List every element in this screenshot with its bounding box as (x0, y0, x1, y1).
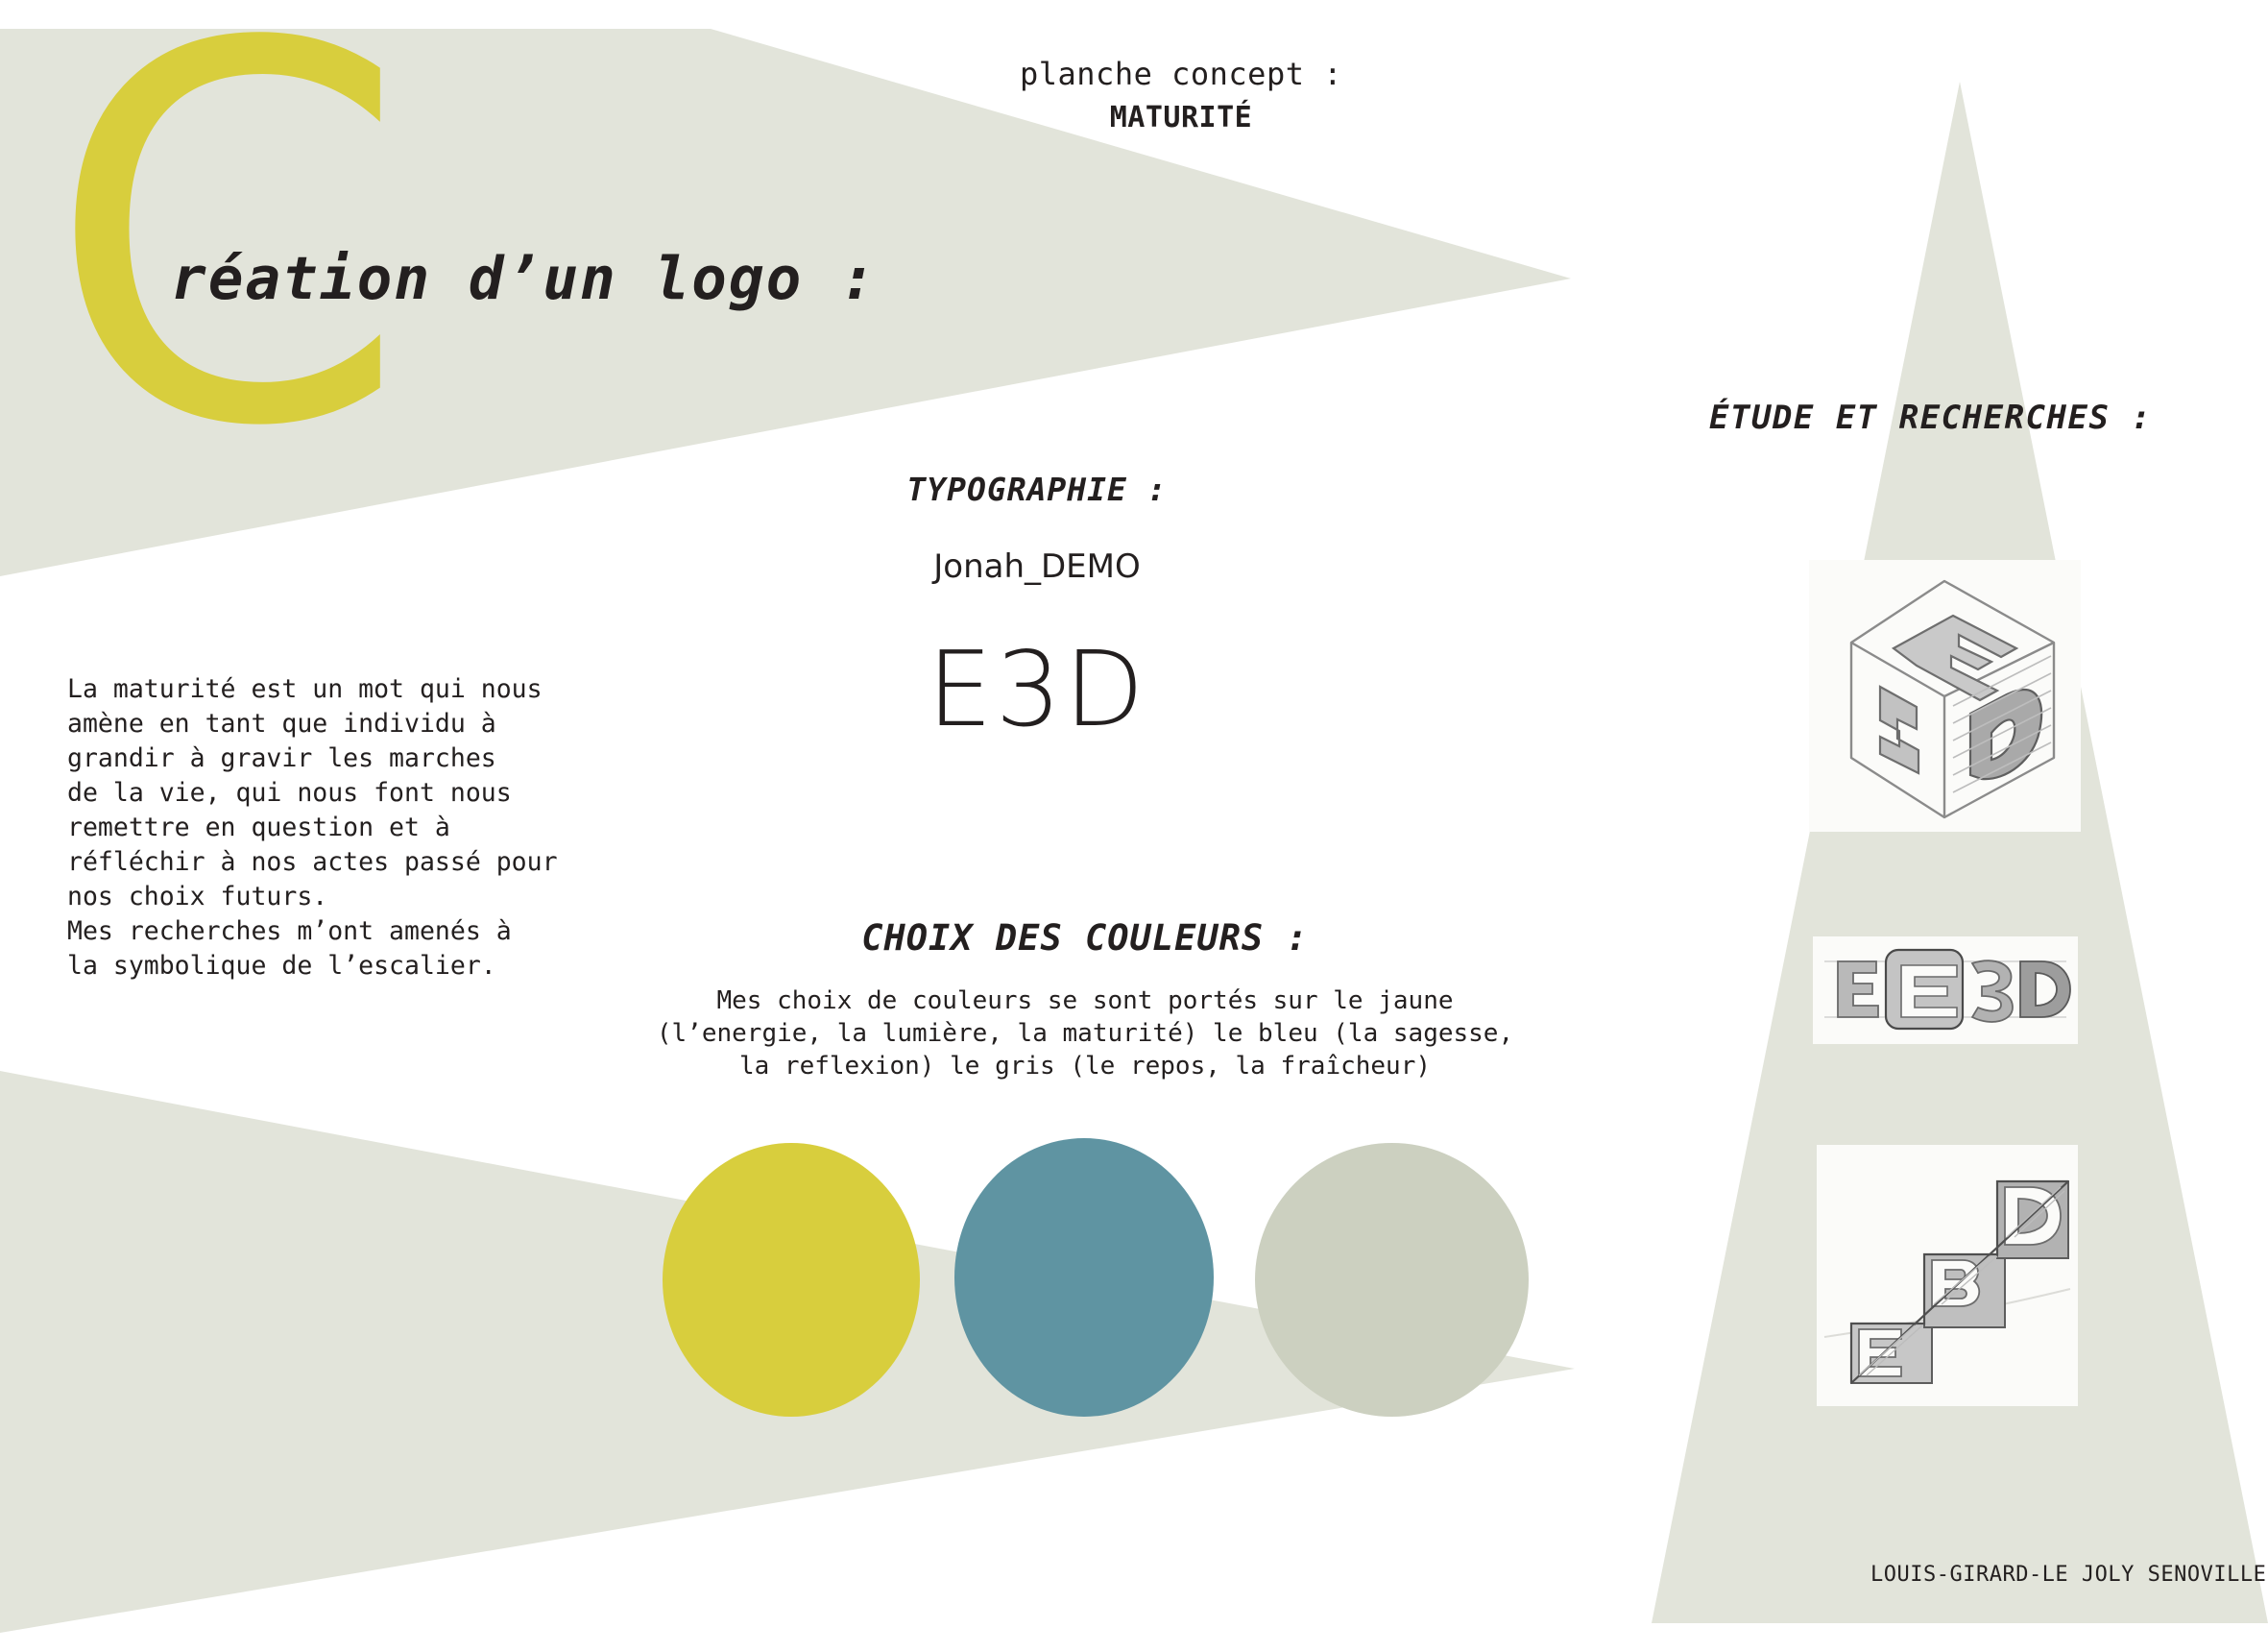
sketch-staircase-ebd (1817, 1145, 2078, 1406)
research-heading: ÉTUDE ET RECHERCHES : (1709, 399, 2152, 437)
colors-description: Mes choix de couleurs se sont portés sur… (653, 984, 1517, 1082)
concept-board: C réation d’un logo : planche concept : … (0, 0, 2268, 1652)
sketch-wordmark-e3d (1813, 936, 2078, 1044)
sketch-cube-e3d-drawing (1809, 560, 2081, 832)
colors-heading: CHOIX DES COULEURS : (711, 917, 1460, 959)
concept-value: MATURITÉ (979, 101, 1383, 134)
typography-sample-e3d: E3D (768, 634, 1306, 748)
concept-label: planche concept : (979, 56, 1383, 92)
author-credit: LOUIS-GIRARD-LE JOLY SENOVILLE (1870, 1563, 2266, 1587)
typography-font-name: Jonah_DEMO (768, 547, 1306, 586)
color-swatch-jaune (663, 1143, 920, 1417)
sketch-staircase-ebd-drawing (1817, 1145, 2078, 1406)
typography-heading: TYPOGRAPHIE : (768, 471, 1306, 508)
sketch-wordmark-e3d-drawing (1813, 936, 2078, 1044)
page-title: réation d’un logo : (171, 245, 878, 313)
sketch-cube-e3d (1809, 560, 2081, 832)
intro-paragraph: La maturité est un mot qui nous amène en… (67, 672, 567, 984)
color-swatch-gris (1255, 1143, 1529, 1417)
concept-header: planche concept : MATURITÉ (979, 56, 1383, 134)
color-swatch-bleu (954, 1138, 1214, 1417)
